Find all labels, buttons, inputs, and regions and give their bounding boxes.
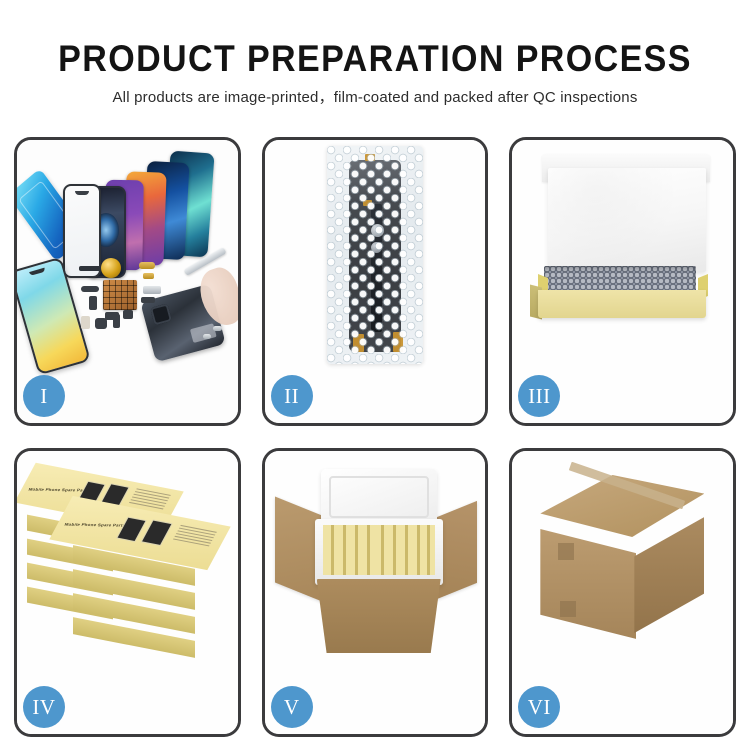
part-small-4 <box>113 314 120 328</box>
step-number-badge: I <box>23 375 65 417</box>
step-number-badge: II <box>271 375 313 417</box>
process-steps-grid: I II <box>14 137 736 737</box>
part-screw-1 <box>213 326 222 331</box>
carton-body <box>317 579 441 653</box>
screen-protector-glass <box>63 184 101 278</box>
part-strip-1 <box>79 266 101 271</box>
bubble-wrap-bag <box>327 146 423 364</box>
box-label-front: Mobile Phone Spare Parts <box>64 522 126 528</box>
part-screw-2 <box>203 334 211 339</box>
carton-tab-lower <box>560 601 576 617</box>
part-small-5 <box>123 310 133 319</box>
kraft-box-front <box>538 290 706 318</box>
step-panel-5: V <box>262 448 489 737</box>
foam-box-lid <box>321 469 437 525</box>
part-gold-2 <box>143 273 154 279</box>
step-panel-1: I <box>14 137 241 426</box>
part-speaker <box>95 318 107 329</box>
gold-coil-part <box>101 258 121 278</box>
page-subtitle: All products are image-printed，film-coat… <box>0 87 750 109</box>
carton-tab-upper <box>558 543 574 560</box>
step-number-badge: V <box>271 686 313 728</box>
part-sim-tray <box>81 316 90 329</box>
page-header: PRODUCT PREPARATION PROCESS All products… <box>0 0 750 109</box>
copper-grid-board <box>103 280 137 310</box>
white-foam-sheet <box>548 168 706 272</box>
step-panel-6: VI <box>509 448 736 737</box>
part-strip-2 <box>81 286 99 292</box>
part-gold-1 <box>139 262 155 269</box>
step-panel-2: II <box>262 137 489 426</box>
part-silver-1 <box>143 286 161 294</box>
step-panel-4: Mobile Phone Spare Parts Mobile Phone Sp… <box>14 448 241 737</box>
step-number-badge: IV <box>23 686 65 728</box>
step-panel-3: III <box>509 137 736 426</box>
part-small-1 <box>89 296 97 310</box>
box-chip-b2 <box>141 519 173 546</box>
page-title: PRODUCT PREPARATION PROCESS <box>30 38 720 80</box>
box-text-lines-front <box>172 525 217 548</box>
yellow-boxes-inside <box>323 525 435 575</box>
bubble-texture <box>327 146 423 364</box>
part-small-2 <box>141 297 155 303</box>
